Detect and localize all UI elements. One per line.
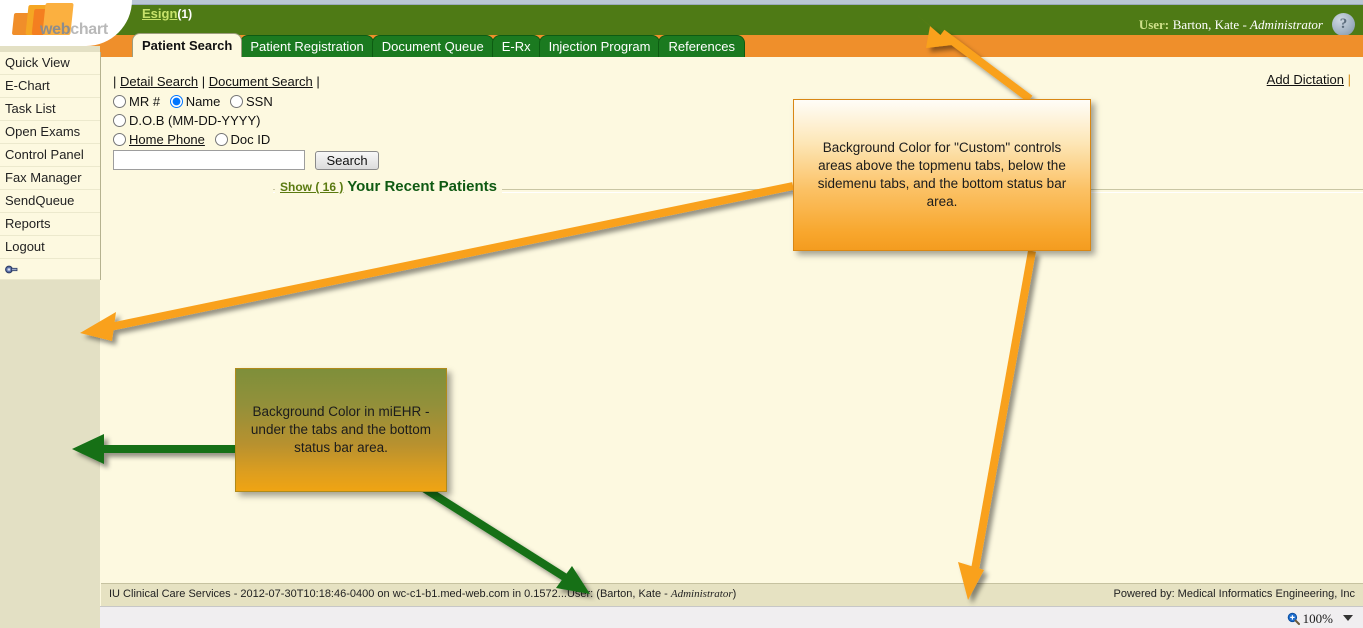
- sidebar-item-label: Open Exams: [5, 124, 80, 139]
- add-dictation-link[interactable]: Add Dictation: [1267, 72, 1344, 87]
- status-bar: IU Clinical Care Services - 2012-07-30T1…: [101, 583, 1363, 606]
- status-close: ): [733, 588, 737, 600]
- detail-search-link[interactable]: Detail Search: [120, 74, 198, 89]
- topmenu-tabs: Patient Search Patient Registration Docu…: [132, 33, 743, 57]
- esign-link-wrap[interactable]: Esign(1): [142, 6, 192, 21]
- search-criteria-group: MR # Name SSN D.O.B (MM-DD-YYYY) Home Ph…: [113, 92, 279, 149]
- sidebar-item-label: Task List: [5, 101, 56, 116]
- zoom-control[interactable]: 100%: [1287, 610, 1353, 627]
- sidebar-item-logout[interactable]: Logout: [0, 236, 100, 259]
- radio-name-input[interactable]: [170, 95, 183, 108]
- esign-link[interactable]: Esign: [142, 6, 177, 21]
- search-row: Search: [113, 150, 379, 170]
- sidebar-item-label: Control Panel: [5, 147, 84, 162]
- radio-home-phone-input[interactable]: [113, 133, 126, 146]
- sidebar-item-quick-view[interactable]: Quick View: [0, 52, 100, 75]
- radio-home-phone[interactable]: Home Phone: [113, 132, 205, 147]
- radio-dob[interactable]: D.O.B (MM-DD-YYYY): [113, 113, 260, 128]
- app-logo-text: webchart: [40, 21, 108, 39]
- radio-doc-id-label: Doc ID: [231, 132, 271, 147]
- application-window: User: Barton, Kate - Administrator ? Esi…: [0, 0, 1363, 628]
- user-label: User:: [1139, 17, 1169, 32]
- links-suffix: |: [316, 74, 319, 89]
- status-bar-right-text: Powered by: Medical Informatics Engineer…: [1113, 588, 1355, 600]
- tab-document-queue[interactable]: Document Queue: [372, 35, 494, 57]
- radio-name-label: Name: [186, 94, 221, 109]
- sidebar-item-reports[interactable]: Reports: [0, 213, 100, 236]
- add-dictation-separator: |: [1348, 72, 1351, 87]
- sidebar-item-task-list[interactable]: Task List: [0, 98, 100, 121]
- recent-patients-section: Show ( 16 ) Your Recent Patients: [113, 178, 1353, 200]
- tab-references[interactable]: References: [658, 35, 744, 57]
- status-text: IU Clinical Care Services - 2012-07-30T1…: [109, 588, 671, 600]
- tab-label: Document Queue: [382, 39, 484, 54]
- home-phone-link[interactable]: Home Phone: [129, 132, 205, 147]
- logo-text-light: chart: [70, 21, 108, 38]
- user-info: User: Barton, Kate - Administrator: [1139, 17, 1323, 33]
- sidebar-item-fax-manager[interactable]: Fax Manager: [0, 167, 100, 190]
- links-separator: |: [202, 74, 205, 89]
- zoom-level-label: 100%: [1303, 611, 1333, 626]
- browser-status-bar: 100%: [0, 606, 1363, 628]
- criteria-row-3: Home Phone Doc ID: [113, 130, 279, 149]
- user-name: Barton, Kate -: [1173, 17, 1250, 32]
- help-icon[interactable]: ?: [1332, 13, 1355, 36]
- sidebar-item-label: E-Chart: [5, 78, 50, 93]
- show-recent-link[interactable]: Show ( 16 ): [280, 180, 343, 194]
- tab-label: Patient Registration: [250, 39, 363, 54]
- criteria-row-1: MR # Name SSN: [113, 92, 279, 111]
- radio-doc-id-input[interactable]: [215, 133, 228, 146]
- callout-custom-background: Background Color for "Custom" controls a…: [793, 99, 1091, 251]
- tab-injection-program[interactable]: Injection Program: [539, 35, 661, 57]
- recent-patients-legend: Show ( 16 ) Your Recent Patients: [275, 178, 502, 195]
- callout-orange-text: Background Color for "Custom" controls a…: [794, 139, 1090, 211]
- search-button[interactable]: Search: [315, 151, 378, 170]
- radio-mr-label: MR #: [129, 94, 160, 109]
- radio-mr[interactable]: MR #: [113, 94, 160, 109]
- tab-label: Injection Program: [549, 39, 651, 54]
- status-role: Administrator: [671, 588, 733, 600]
- header-bar: User: Barton, Kate - Administrator ?: [0, 5, 1363, 35]
- tab-label: Patient Search: [142, 38, 232, 53]
- radio-ssn[interactable]: SSN: [230, 94, 273, 109]
- radio-dob-label: D.O.B (MM-DD-YYYY): [129, 113, 260, 128]
- user-role: Administrator: [1250, 17, 1323, 32]
- radio-name[interactable]: Name: [170, 94, 221, 109]
- radio-ssn-input[interactable]: [230, 95, 243, 108]
- radio-doc-id[interactable]: Doc ID: [215, 132, 271, 147]
- tab-e-rx[interactable]: E-Rx: [492, 35, 541, 57]
- esign-count: (1): [177, 7, 192, 21]
- search-mode-links: | Detail Search | Document Search |: [113, 74, 320, 89]
- radio-ssn-label: SSN: [246, 94, 273, 109]
- radio-mr-input[interactable]: [113, 95, 126, 108]
- sidebar-item-label: Fax Manager: [5, 170, 82, 185]
- sidebar-item-plugin[interactable]: [0, 259, 100, 280]
- sidebar-item-label: Quick View: [5, 55, 70, 70]
- sidemenu: Quick View E-Chart Task List Open Exams …: [0, 46, 100, 628]
- links-prefix: |: [113, 74, 116, 89]
- status-bar-left-text: IU Clinical Care Services - 2012-07-30T1…: [109, 588, 736, 600]
- sidemenu-list: Quick View E-Chart Task List Open Exams …: [0, 52, 101, 280]
- logo-text-bold: web: [40, 21, 70, 38]
- sidebar-item-open-exams[interactable]: Open Exams: [0, 121, 100, 144]
- tab-label: References: [668, 39, 734, 54]
- radio-dob-input[interactable]: [113, 114, 126, 127]
- plug-icon: [5, 261, 18, 272]
- main-content: | Detail Search | Document Search | Add …: [101, 58, 1363, 583]
- sidebar-item-sendqueue[interactable]: SendQueue: [0, 190, 100, 213]
- recent-patients-title: Your Recent Patients: [347, 178, 497, 195]
- callout-green-text: Background Color in miEHR - under the ta…: [236, 403, 446, 457]
- sidebar-item-e-chart[interactable]: E-Chart: [0, 75, 100, 98]
- zoom-in-icon: [1287, 612, 1300, 625]
- criteria-row-2: D.O.B (MM-DD-YYYY): [113, 111, 279, 130]
- sidebar-item-label: Reports: [5, 216, 51, 231]
- sidebar-item-label: SendQueue: [5, 193, 74, 208]
- tab-label: E-Rx: [502, 39, 531, 54]
- chevron-down-icon[interactable]: [1343, 615, 1353, 621]
- document-search-link[interactable]: Document Search: [209, 74, 313, 89]
- sidebar-item-label: Logout: [5, 239, 45, 254]
- add-dictation-wrap: Add Dictation |: [1267, 72, 1351, 87]
- tab-patient-registration[interactable]: Patient Registration: [240, 35, 373, 57]
- search-input[interactable]: [113, 150, 305, 170]
- tab-patient-search[interactable]: Patient Search: [132, 33, 242, 57]
- sidebar-item-control-panel[interactable]: Control Panel: [0, 144, 100, 167]
- callout-miehr-background: Background Color in miEHR - under the ta…: [235, 368, 447, 492]
